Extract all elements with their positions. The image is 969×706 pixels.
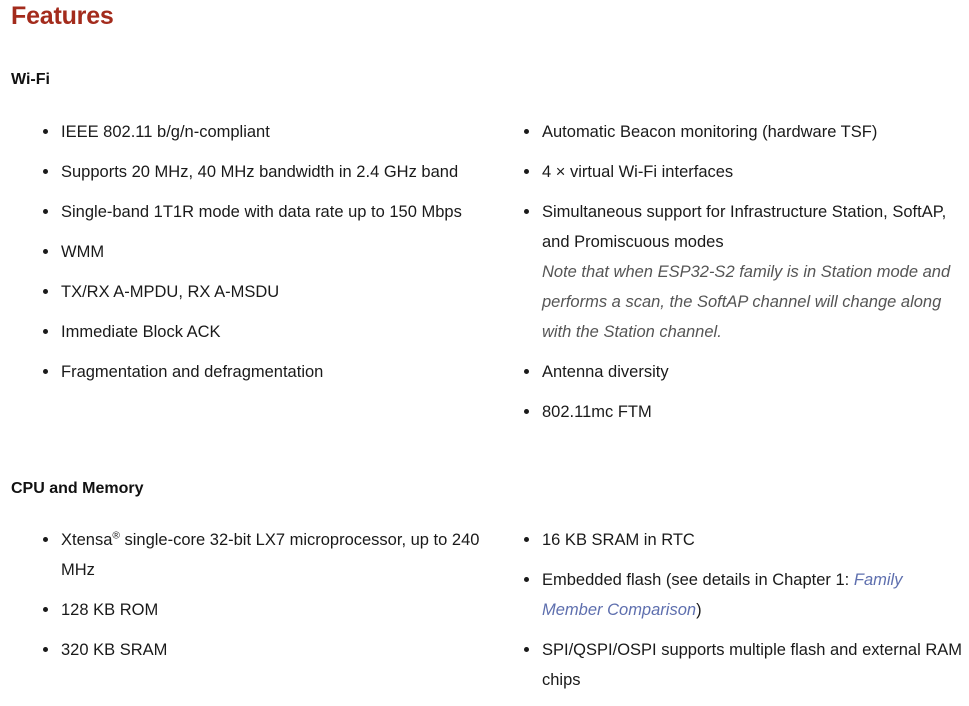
list-item-label: 802.11mc FTM <box>542 397 967 427</box>
bullet-icon <box>43 607 48 612</box>
datasheet-features-page: Features Wi-Fi IEEE 802.11 b/g/n-complia… <box>0 0 969 706</box>
list-item-label: 4 × virtual Wi-Fi interfaces <box>542 157 967 187</box>
list-item: 320 KB SRAM <box>34 635 489 665</box>
list-item: IEEE 802.11 b/g/n-compliant <box>34 117 489 147</box>
list-item-label: IEEE 802.11 b/g/n-compliant <box>61 117 489 147</box>
list-item: 16 KB SRAM in RTC <box>515 525 967 555</box>
bullet-icon <box>524 577 529 582</box>
list-item-label: Automatic Beacon monitoring (hardware TS… <box>542 117 967 147</box>
list-item-label: Single-band 1T1R mode with data rate up … <box>61 197 489 227</box>
cpu-left-list: Xtensa® single-core 32-bit LX7 microproc… <box>34 525 489 665</box>
bullet-icon <box>43 209 48 214</box>
bullet-icon <box>524 647 529 652</box>
cpu-left-column: Xtensa® single-core 32-bit LX7 microproc… <box>34 525 489 665</box>
xtensa-brand-text: Xtensa <box>61 531 112 549</box>
bullet-icon <box>524 209 529 214</box>
bullet-icon <box>43 369 48 374</box>
list-item-label: Immediate Block ACK <box>61 317 489 347</box>
bullet-icon <box>524 129 529 134</box>
list-item-embedded-flash: Embedded flash (see details in Chapter 1… <box>515 565 967 625</box>
list-item: Automatic Beacon monitoring (hardware TS… <box>515 117 967 147</box>
list-item-note: Note that when ESP32-S2 family is in Sta… <box>542 257 967 347</box>
list-item-label: 320 KB SRAM <box>61 635 489 665</box>
list-item-label: WMM <box>61 237 489 267</box>
registered-trademark-icon: ® <box>112 531 120 542</box>
bullet-icon <box>43 169 48 174</box>
wifi-right-column: Automatic Beacon monitoring (hardware TS… <box>515 117 967 427</box>
list-item-label: 128 KB ROM <box>61 595 489 625</box>
wifi-left-list: IEEE 802.11 b/g/n-compliant Supports 20 … <box>34 117 489 387</box>
wifi-right-list: Automatic Beacon monitoring (hardware TS… <box>515 117 967 427</box>
bullet-icon <box>43 249 48 254</box>
bullet-icon <box>43 537 48 542</box>
list-item-label: Supports 20 MHz, 40 MHz bandwidth in 2.4… <box>61 157 489 187</box>
bullet-icon <box>43 129 48 134</box>
list-item: Supports 20 MHz, 40 MHz bandwidth in 2.4… <box>34 157 489 187</box>
list-item-label: Simultaneous support for Infrastructure … <box>542 197 967 257</box>
bullet-icon <box>524 369 529 374</box>
embedded-flash-text-after: ) <box>696 601 702 619</box>
bullet-icon <box>43 329 48 334</box>
list-item: Single-band 1T1R mode with data rate up … <box>34 197 489 227</box>
list-item-label: Xtensa® single-core 32-bit LX7 microproc… <box>61 525 489 585</box>
list-item-with-note: Simultaneous support for Infrastructure … <box>515 197 967 347</box>
bullet-icon <box>524 409 529 414</box>
section-heading-cpu-and-memory: CPU and Memory <box>11 479 143 498</box>
bullet-icon <box>524 169 529 174</box>
xtensa-spec-text: single-core 32-bit LX7 microprocessor, u… <box>61 531 479 579</box>
list-item: Immediate Block ACK <box>34 317 489 347</box>
list-item-label: TX/RX A-MPDU, RX A-MSDU <box>61 277 489 307</box>
list-item: Antenna diversity <box>515 357 967 387</box>
list-item-label: Embedded flash (see details in Chapter 1… <box>542 565 967 625</box>
page-title: Features <box>11 2 114 31</box>
bullet-icon <box>43 647 48 652</box>
section-heading-wifi: Wi-Fi <box>11 70 50 89</box>
list-item: TX/RX A-MPDU, RX A-MSDU <box>34 277 489 307</box>
list-item: SPI/QSPI/OSPI supports multiple flash an… <box>515 635 967 695</box>
list-item: 128 KB ROM <box>34 595 489 625</box>
list-item-label: Antenna diversity <box>542 357 967 387</box>
list-item-label: 16 KB SRAM in RTC <box>542 525 967 555</box>
embedded-flash-text-before: Embedded flash (see details in Chapter 1… <box>542 571 854 589</box>
bullet-icon <box>43 289 48 294</box>
list-item-label: Fragmentation and defragmentation <box>61 357 489 387</box>
wifi-left-column: IEEE 802.11 b/g/n-compliant Supports 20 … <box>34 117 489 387</box>
list-item: 4 × virtual Wi-Fi interfaces <box>515 157 967 187</box>
list-item: 802.11mc FTM <box>515 397 967 427</box>
list-item: WMM <box>34 237 489 267</box>
list-item: Fragmentation and defragmentation <box>34 357 489 387</box>
list-item-xtensa: Xtensa® single-core 32-bit LX7 microproc… <box>34 525 489 585</box>
list-item-label: SPI/QSPI/OSPI supports multiple flash an… <box>542 635 967 695</box>
cpu-right-column: 16 KB SRAM in RTC Embedded flash (see de… <box>515 525 967 695</box>
bullet-icon <box>524 537 529 542</box>
cpu-right-list: 16 KB SRAM in RTC Embedded flash (see de… <box>515 525 967 695</box>
